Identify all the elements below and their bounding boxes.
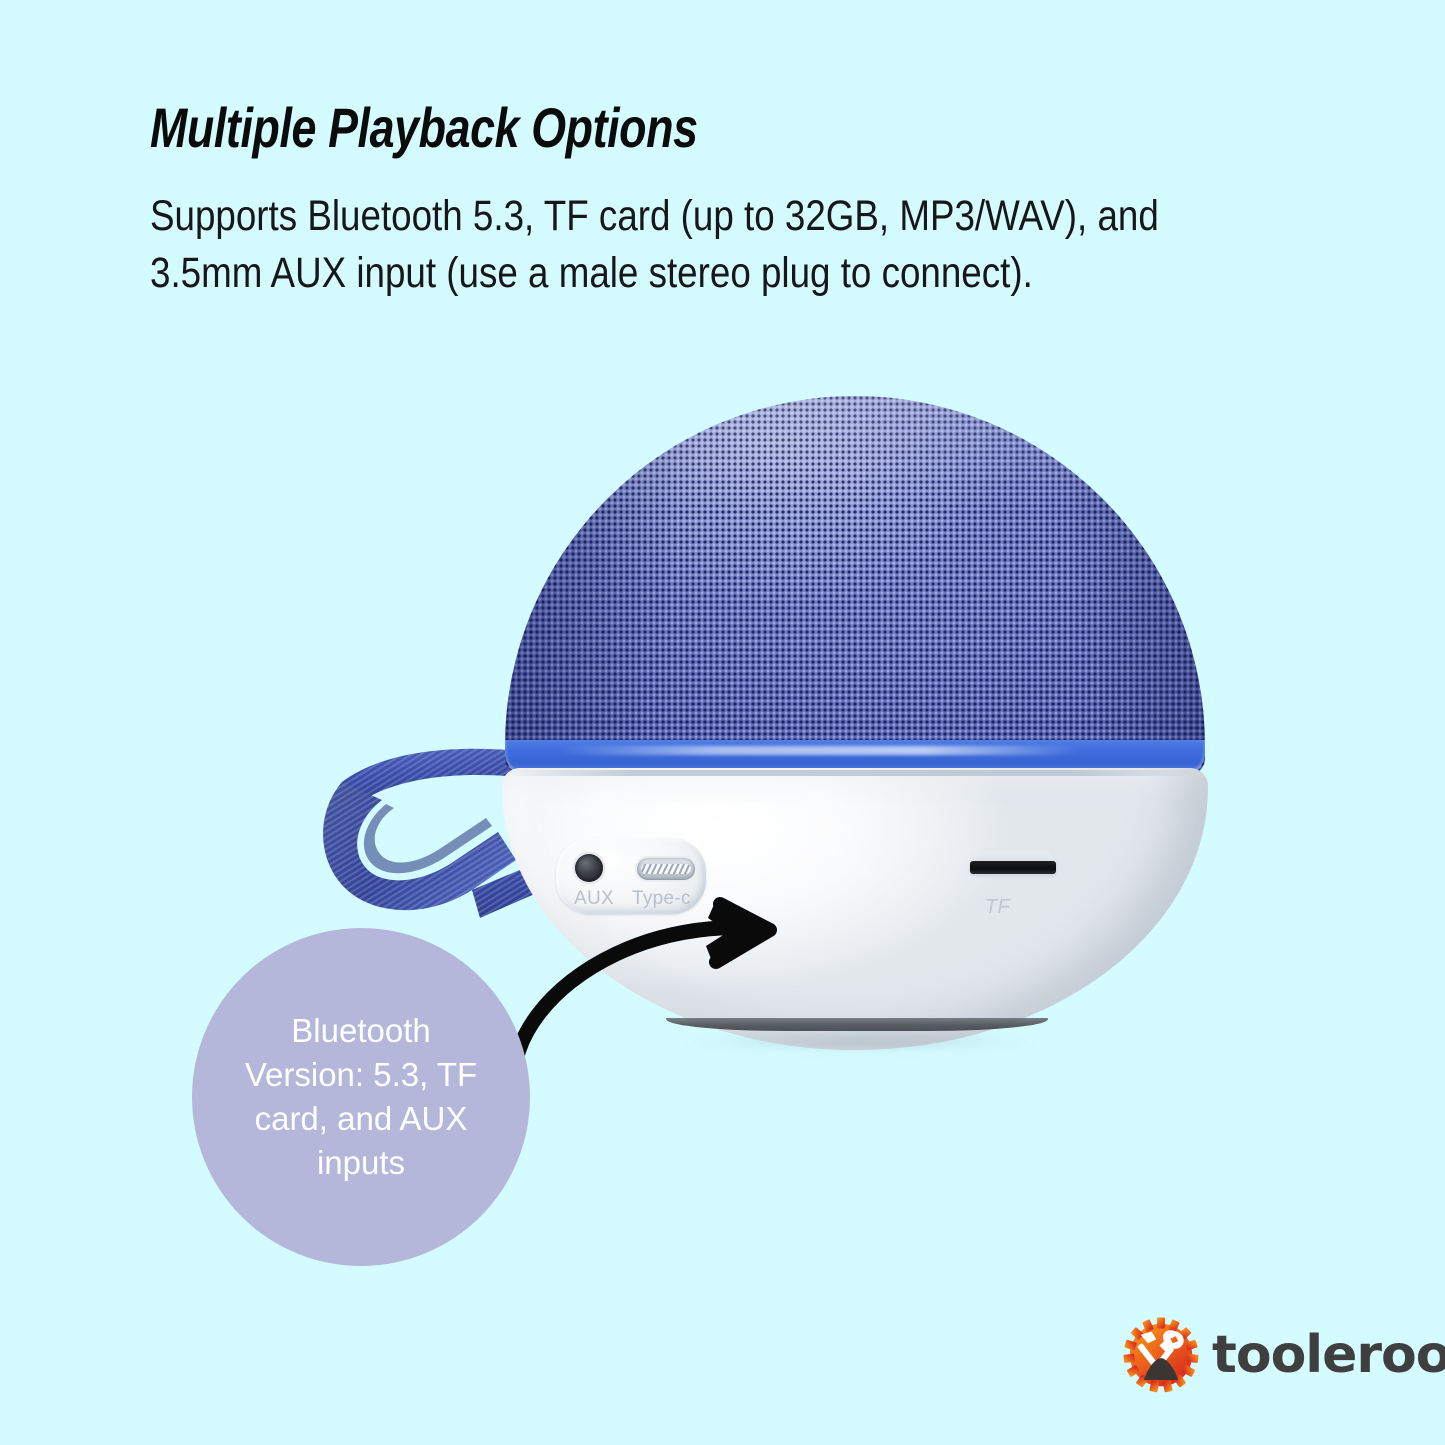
- callout-line-1: Bluetooth: [291, 1012, 430, 1049]
- speaker-mesh-dome: [505, 396, 1205, 776]
- callout-line-3: card, and AUX: [255, 1100, 468, 1137]
- callout-text: Bluetooth Version: 5.3, TF card, and AUX…: [231, 1009, 491, 1185]
- speaker-trim-highlight: [560, 746, 1080, 755]
- callout-line-4: inputs: [317, 1144, 405, 1181]
- brand-wordmark: tooleroo®: [1212, 1329, 1445, 1381]
- brand-wordmark-text: tooleroo: [1212, 1325, 1445, 1385]
- speaker-body-seam: [506, 770, 1204, 776]
- brand-logo: tooleroo®: [1122, 1312, 1412, 1398]
- callout-line-2: Version: 5.3, TF: [245, 1056, 477, 1093]
- gear-icon: [1122, 1316, 1200, 1394]
- infographic-canvas: Multiple Playback Options Supports Bluet…: [0, 0, 1445, 1445]
- tf-card-slot-icon: [970, 861, 1056, 874]
- aux-port-icon: [575, 854, 603, 882]
- tf-slot-label: TF: [985, 896, 1010, 919]
- product-image-speaker: AUX Type-c TF: [0, 0, 1445, 1445]
- callout-bubble: Bluetooth Version: 5.3, TF card, and AUX…: [192, 928, 530, 1266]
- type-c-port-icon: [637, 858, 695, 880]
